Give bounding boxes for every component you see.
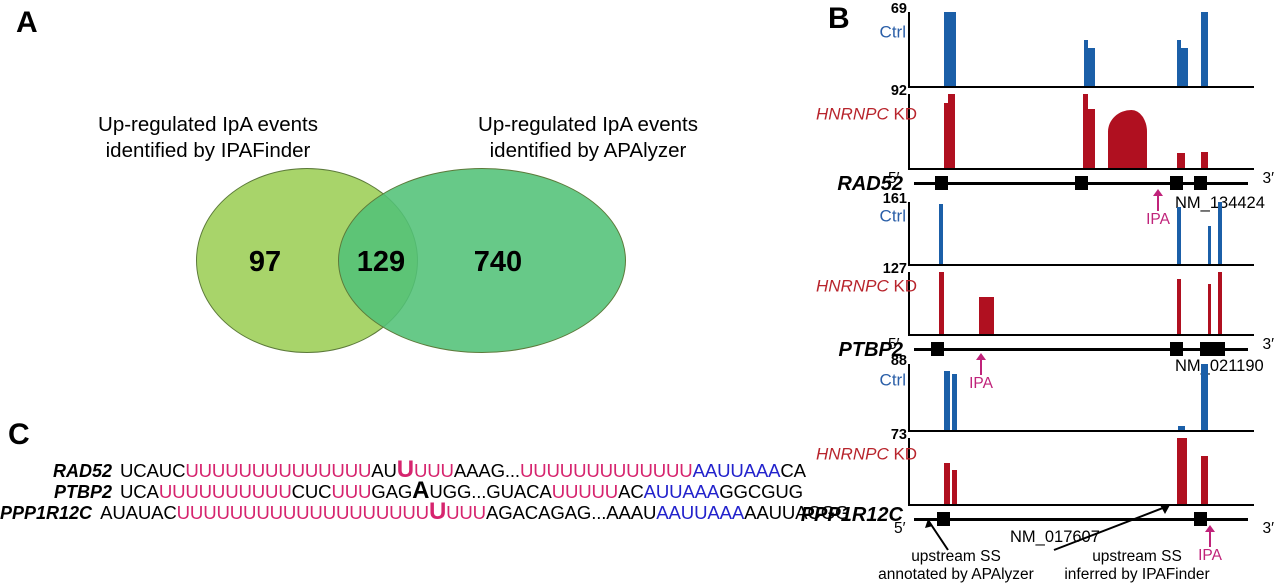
- ipa-marker-ppp1r12c: IPA: [1190, 530, 1230, 564]
- exon-box: [931, 342, 944, 356]
- sequence-segment: UUUUUUUUUUUUUUUUUUU: [177, 502, 429, 523]
- coverage-peak: [1201, 12, 1208, 86]
- coverage-peak: [979, 297, 994, 334]
- exon-box: [1194, 176, 1207, 190]
- annotation-left-line1: upstream SS: [866, 548, 1046, 566]
- axis-max-kd-ptbp2: 127: [883, 262, 910, 277]
- venn-diagram: 97 129 740: [196, 168, 626, 353]
- sequence-segment: AAUUAAA: [656, 502, 744, 523]
- coverage-peak: [1108, 110, 1148, 168]
- peaks-ctrl-ptbp2: [910, 202, 1254, 264]
- axis-max-ctrl-rad52: 69: [891, 2, 910, 17]
- sequence-segment: AGACAGAG...AAAU: [486, 502, 656, 523]
- sequence-string: AUAUACUUUUUUUUUUUUUUUUUUUUUUUAGACAGAG...…: [92, 498, 849, 526]
- sequence-gene-name: PPP1R12C: [0, 503, 92, 524]
- track-label-kd-ptbp2: HNRNPC KD: [816, 278, 906, 295]
- gene-model-rad52: RAD52 5′ 3′: [908, 172, 1254, 194]
- coverage-peak: [1208, 284, 1211, 334]
- axis-max-ctrl-ptbp2: 161: [883, 192, 910, 207]
- panel-c-letter: C: [8, 420, 30, 450]
- sequence-segment: UUU: [446, 502, 486, 523]
- five-prime-label-ptbp2: 5′: [888, 336, 900, 354]
- sequence-alignment-table: RAD52UCAUCUUUUUUUUUUUUUUAUUUUUAAAG...UUU…: [0, 456, 820, 519]
- coverage-peak: [1208, 226, 1211, 264]
- five-prime-label-rad52: 5′: [888, 170, 900, 188]
- coverage-track-ctrl-ptbp2: 161 Ctrl: [908, 202, 1254, 266]
- sequence-gene-name: RAD52: [0, 461, 112, 482]
- ipa-label-ppp1r12c: IPA: [1190, 547, 1230, 564]
- annotation-left-ppp1r12c: upstream SS annotated by APAlyzer: [866, 548, 1046, 584]
- three-prime-label-rad52: 3′: [1262, 170, 1274, 188]
- gene-block-ptbp2: 161 Ctrl 127 HNRNPC KD PTBP2 5′ 3′ IPA N…: [820, 198, 1280, 363]
- annotation-right-line2: inferred by IPAFinder: [1052, 566, 1222, 584]
- axis-max-kd-rad52: 92: [891, 84, 910, 99]
- gene-axis-line-ptbp2: [914, 348, 1248, 351]
- exon-box: [935, 176, 948, 190]
- exon-box: [1170, 342, 1183, 356]
- gene-block-rad52: 69 Ctrl 92 HNRNPC KD RAD52 5′ 3′ IPA NM_…: [820, 8, 1280, 200]
- gene-block-ppp1r12c: 88 Ctrl 73 HNRNPC KD PPP1R12C 5′ 3′ NM_0…: [820, 360, 1280, 575]
- peaks-kd-rad52: [910, 94, 1254, 168]
- sequence-segment: U: [429, 498, 446, 525]
- coverage-peak: [1218, 202, 1222, 264]
- venn-count-right-only: 740: [448, 246, 548, 279]
- sequence-row: RAD52UCAUCUUUUUUUUUUUUUUAUUUUUAAAG...UUU…: [0, 456, 820, 477]
- track-label-ctrl-rad52: Ctrl: [816, 24, 906, 41]
- coverage-peak: [939, 272, 944, 334]
- kd-gene-name: HNRNPC: [816, 277, 889, 296]
- panel-c: C RAD52UCAUCUUUUUUUUUUUUUUAUUUUUAAAG...U…: [0, 408, 820, 575]
- peaks-kd-ptbp2: [910, 272, 1254, 334]
- panel-b: B 69 Ctrl 92 HNRNPC KD RAD52 5′ 3′ IPA N…: [820, 0, 1280, 575]
- coverage-track-ctrl-rad52: 69 Ctrl: [908, 12, 1254, 88]
- annotation-left-line2: annotated by APAlyzer: [866, 566, 1046, 584]
- exon-box: [1212, 342, 1225, 356]
- exon-box: [1075, 176, 1088, 190]
- panel-a: A Up-regulated IpA events identified by …: [0, 0, 800, 400]
- coverage-peak: [1177, 207, 1181, 264]
- exon-box: [1170, 176, 1183, 190]
- venn-count-intersection: 129: [336, 246, 426, 279]
- coverage-peak: [1177, 279, 1181, 334]
- coverage-peak: [944, 12, 956, 86]
- peaks-ctrl-rad52: [910, 12, 1254, 86]
- sequence-row: PTBP2UCAUUUUUUUUUUCUCUUUGAGAUGG...GUACAU…: [0, 477, 820, 498]
- panel-a-letter: A: [16, 8, 38, 38]
- venn-caption-left: Up-regulated IpA events identified by IP…: [58, 112, 358, 164]
- coverage-peak: [1088, 48, 1096, 86]
- three-prime-label-ptbp2: 3′: [1262, 336, 1274, 354]
- coverage-peak: [1201, 152, 1208, 168]
- coverage-track-kd-rad52: 92 HNRNPC KD: [908, 94, 1254, 170]
- sequence-row: PPP1R12CAUAUACUUUUUUUUUUUUUUUUUUUUUUUAGA…: [0, 498, 820, 519]
- coverage-track-kd-ptbp2: 127 HNRNPC KD: [908, 272, 1254, 336]
- coverage-peak: [1181, 48, 1187, 86]
- coverage-peak: [939, 204, 943, 264]
- track-label-kd-rad52: HNRNPC KD: [816, 106, 906, 123]
- coverage-peak: [948, 94, 956, 168]
- venn-caption-right: Up-regulated IpA events identified by AP…: [438, 112, 738, 164]
- sequence-segment: AUAUAC: [100, 502, 177, 523]
- venn-count-left-only: 97: [220, 246, 310, 279]
- coverage-peak: [1218, 272, 1222, 334]
- coverage-peak: [1088, 109, 1096, 168]
- track-label-ctrl-ptbp2: Ctrl: [816, 208, 906, 225]
- coverage-peak: [1177, 153, 1185, 168]
- ipa-arrow-icon: [1209, 530, 1212, 547]
- kd-gene-name: HNRNPC: [816, 105, 889, 124]
